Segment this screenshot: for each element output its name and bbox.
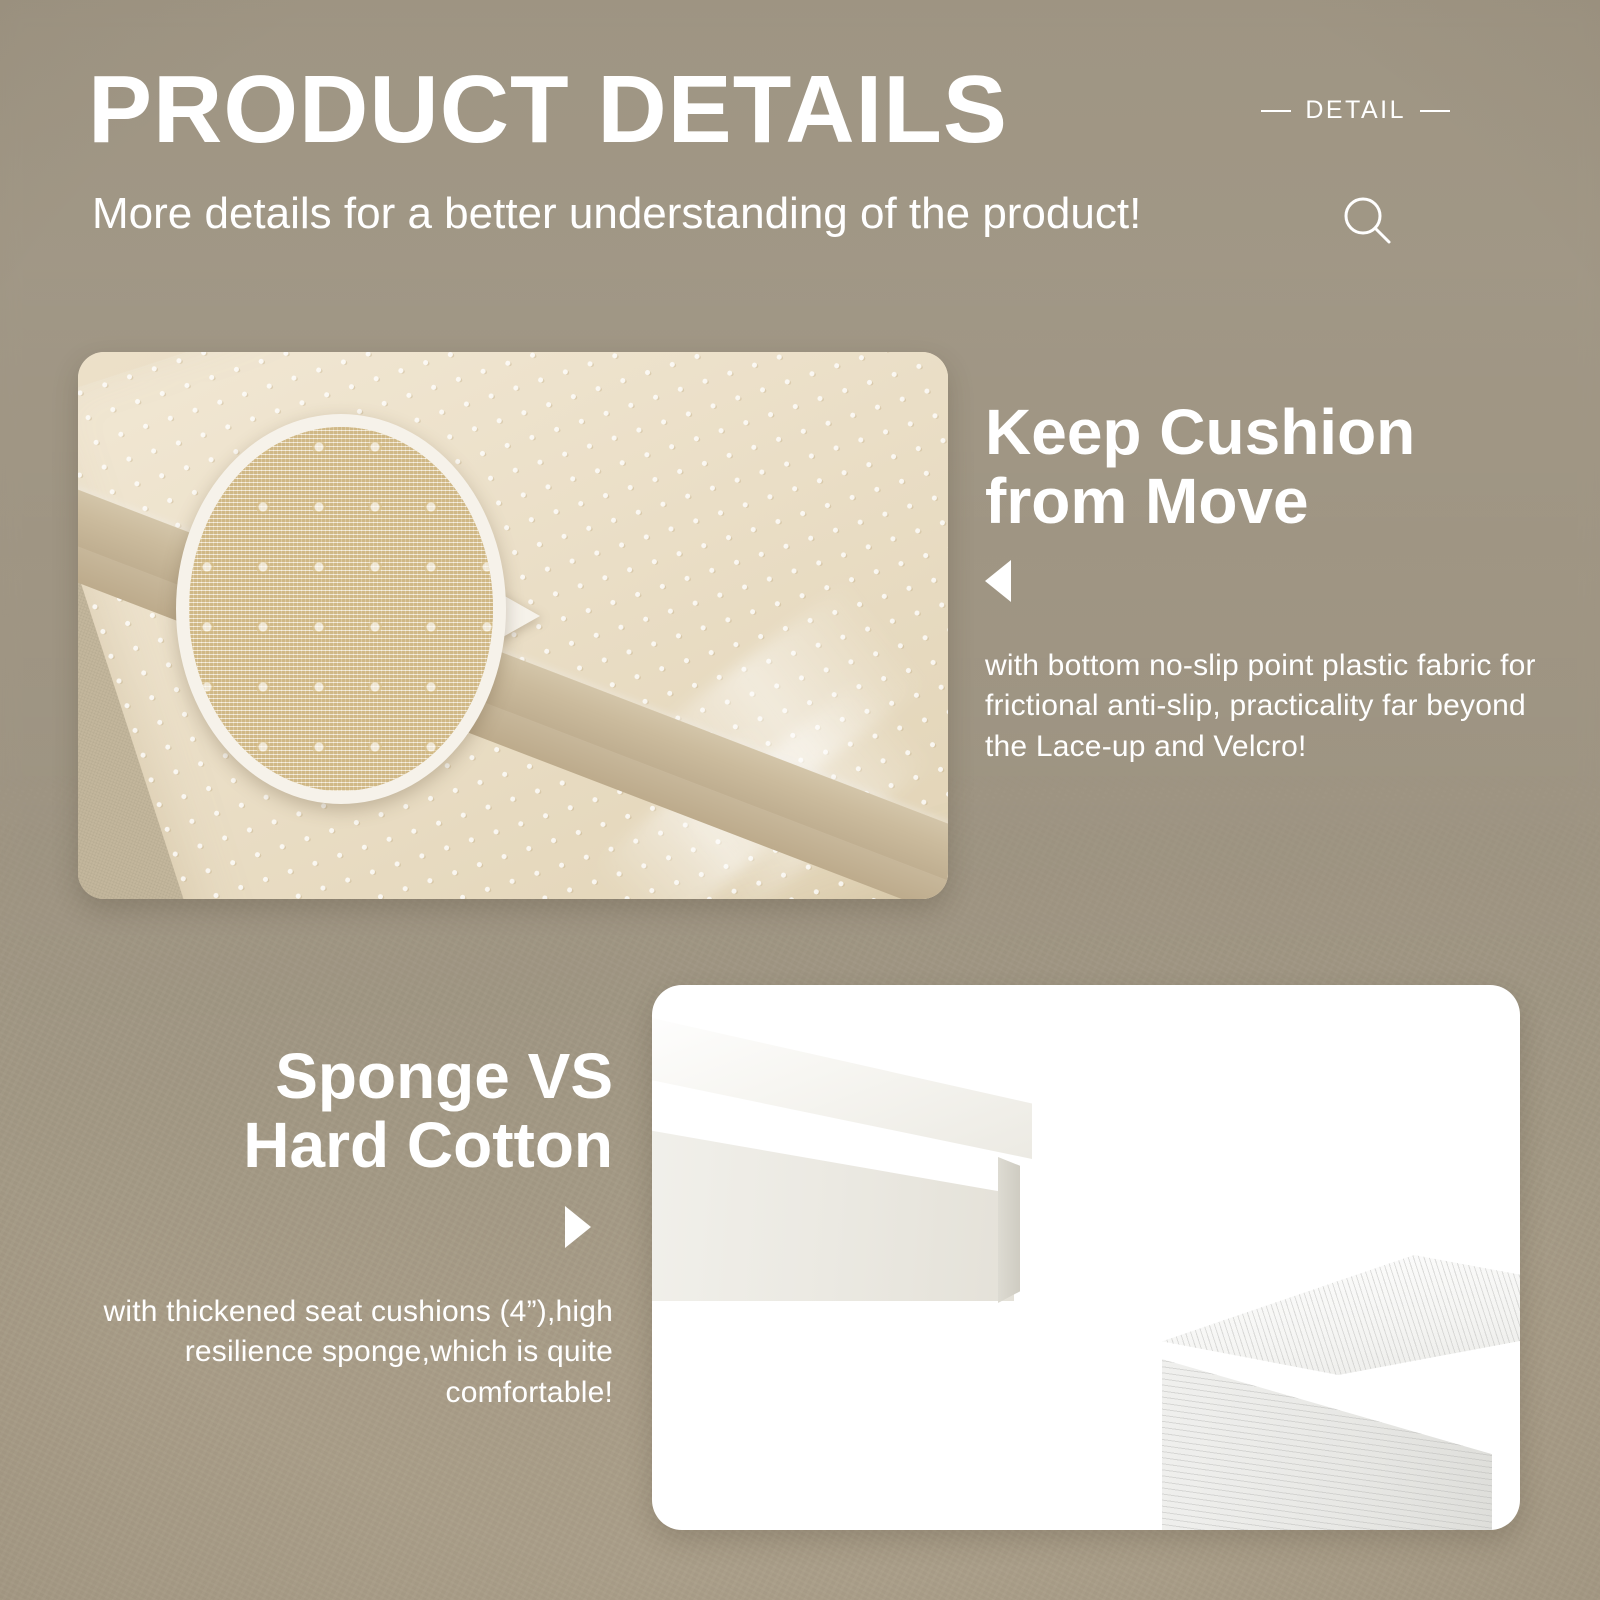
keep-cushion-heading: Keep Cushion from Move <box>985 398 1555 536</box>
sponge-vs-heading: Sponge VS Hard Cotton <box>40 1042 613 1180</box>
keep-cushion-text-block: Keep Cushion from Move with bottom no-sl… <box>985 398 1555 767</box>
product-detail-page: PRODUCT DETAILS More details for a bette… <box>0 0 1600 1600</box>
triangle-left-icon <box>985 560 1011 602</box>
detail-tag-rule-left <box>1261 110 1291 112</box>
hard-cotton-block <box>1162 1255 1520 1530</box>
search-icon <box>1339 192 1395 248</box>
keep-cushion-body: with bottom no-slip point plastic fabric… <box>985 646 1555 767</box>
keep-cushion-heading-line1: Keep Cushion <box>985 398 1555 467</box>
sponge-vs-text-block: Sponge VS Hard Cotton with thickened sea… <box>40 1042 613 1413</box>
page-subtitle: More details for a better understanding … <box>92 192 1141 236</box>
callout-ring <box>176 414 506 804</box>
cushion-photo-card <box>78 352 948 899</box>
sponge-vs-heading-line1: Sponge VS <box>40 1042 613 1111</box>
sponge-right-edge <box>998 1157 1020 1303</box>
page-title: PRODUCT DETAILS <box>88 62 1008 158</box>
sponge-vs-card: current VS others <box>652 985 1520 1530</box>
magnified-callout <box>176 414 506 804</box>
detail-tag: DETAIL <box>1261 96 1450 125</box>
keep-cushion-heading-line2: from Move <box>985 467 1555 536</box>
sponge-top-face <box>652 1009 1032 1159</box>
sponge-vs-heading-line2: Hard Cotton <box>40 1111 613 1180</box>
triangle-right-icon <box>565 1206 591 1248</box>
detail-tag-rule-right <box>1420 110 1450 112</box>
cotton-top-fibers <box>1162 1255 1520 1375</box>
callout-grip-bumps <box>189 427 493 791</box>
high-resilience-sponge-block <box>652 1009 1032 1309</box>
detail-tag-label: DETAIL <box>1305 96 1406 125</box>
sponge-vs-body: with thickened seat cushions (4”),high r… <box>40 1292 613 1413</box>
